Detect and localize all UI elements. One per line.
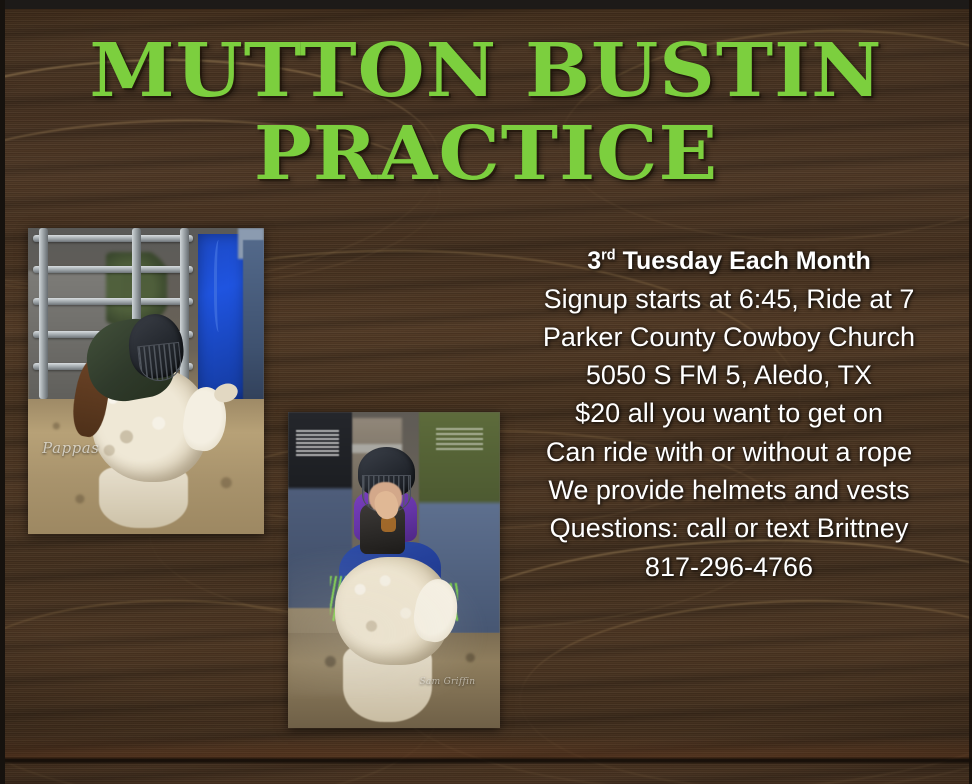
schedule-ordinal-number: 3 [587,247,601,275]
poster-left-edge [0,0,5,784]
shirt-graphic-right [436,425,483,450]
flyer-poster: MUTTON BUSTIN PRACTICE Pap [0,0,972,784]
poster-top-edge [0,0,972,9]
photo-right: Sam Griffin [288,412,500,728]
photo-left: Pappas [28,228,264,534]
info-line-times: Signup starts at 6:45, Ride at 7 [505,280,953,318]
schedule-ordinal-suffix: rd [601,248,616,264]
blue-pad-strap [214,240,226,332]
bystander-jeans [243,240,264,417]
info-line-phone: 817-296-4766 [505,548,953,586]
info-line-contact: Questions: call or text Brittney [505,509,953,547]
photo-watermark: Sam Griffin [419,677,475,687]
info-line-schedule: 3rd Tuesday Each Month [505,244,953,280]
shirt-graphic-left [296,428,338,456]
photo-watermark: Pappas [42,439,99,457]
info-text-block: 3rd Tuesday Each Month Signup starts at … [505,244,953,586]
arena-dust [288,538,500,696]
info-line-address: 5050 S FM 5, Aledo, TX [505,356,953,394]
info-line-venue: Parker County Cowboy Church [505,318,953,356]
info-line-price: $20 all you want to get on [505,394,953,432]
info-line-gear: We provide helmets and vests [505,471,953,509]
info-line-rope: Can ride with or without a rope [505,433,953,471]
schedule-rest: Tuesday Each Month [616,247,871,275]
